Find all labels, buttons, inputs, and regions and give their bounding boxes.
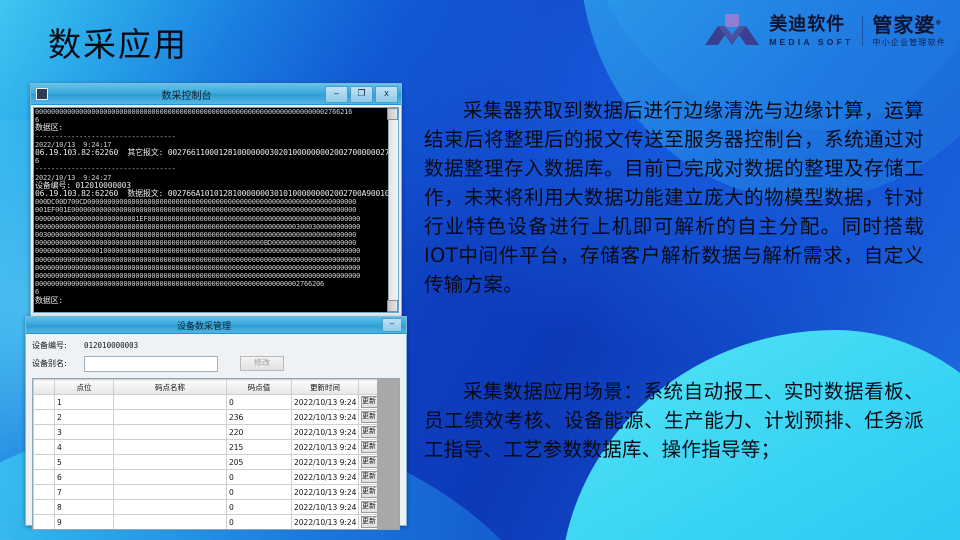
th-update-time: 更新时间: [292, 380, 359, 395]
console-log-text: 0000000000000000000000000000000000000000…: [35, 108, 388, 305]
maximize-button[interactable]: ❐: [350, 86, 373, 103]
cell-position: 5: [55, 455, 114, 470]
brand-name-cn: 美迪软件: [769, 16, 853, 34]
cell-code-value: 205: [227, 455, 292, 470]
th-code-value: 码点值: [227, 380, 292, 395]
device-code-row: 设备编号: 012010000003: [32, 338, 400, 353]
cell-code-value: 0: [227, 485, 292, 500]
cell-position: 9: [55, 515, 114, 530]
row-selector[interactable]: [34, 455, 55, 470]
cell-position: 2: [55, 410, 114, 425]
cell-code-value: 236: [227, 410, 292, 425]
cell-code-name: [114, 395, 227, 410]
device-code-value: 012010000003: [84, 341, 138, 350]
modify-button[interactable]: 修改: [240, 356, 284, 371]
device-alias-input[interactable]: [84, 356, 218, 372]
cell-code-value: 0: [227, 500, 292, 515]
device-alias-label: 设备别名:: [32, 358, 84, 369]
cell-code-value: 0: [227, 515, 292, 530]
table-row[interactable]: 602022/10/13 9:24更新: [34, 470, 401, 485]
console-window-controls[interactable]: – ❐ x: [325, 86, 398, 103]
slide-canvas: 数采应用 美迪软件 MEDIA SOFT 管家婆® 中小企业管理软件 数采控制台: [0, 0, 960, 540]
table-row[interactable]: 102022/10/13 9:24更新: [34, 395, 401, 410]
cell-code-value: 0: [227, 530, 292, 531]
row-selector[interactable]: [34, 485, 55, 500]
cell-code-name: [114, 470, 227, 485]
row-selector[interactable]: [34, 470, 55, 485]
cell-code-name: [114, 455, 227, 470]
th-select: [34, 380, 55, 395]
cell-position: 6: [55, 470, 114, 485]
device-collection-window[interactable]: 设备数采管理 – 设备编号: 012010000003 设备别名: 修改 点位: [25, 316, 407, 526]
table-row[interactable]: 1002022/10/13 9:24更新: [34, 530, 401, 531]
cell-update-time: 2022/10/13 9:24: [292, 530, 359, 531]
trademark-symbol: ®: [935, 19, 942, 26]
cell-code-name: [114, 485, 227, 500]
minimize-button[interactable]: –: [382, 318, 402, 332]
console-scrollbar[interactable]: [388, 108, 398, 312]
device-window-title-bar[interactable]: 设备数采管理 –: [26, 317, 406, 334]
cell-position: 7: [55, 485, 114, 500]
code-point-table: 点位 码点名称 码点值 更新时间 操作 102022/10/13 9:24更新2…: [33, 379, 400, 530]
table-row[interactable]: 702022/10/13 9:24更新: [34, 485, 401, 500]
cell-update-time: 2022/10/13 9:24: [292, 455, 359, 470]
cell-code-value: 220: [227, 425, 292, 440]
device-alias-row: 设备别名: 修改: [32, 356, 400, 371]
row-selector[interactable]: [34, 425, 55, 440]
cell-update-time: 2022/10/13 9:24: [292, 500, 359, 515]
scroll-down-arrow[interactable]: [387, 300, 398, 312]
paragraph-description: 采集器获取到数据后进行边缘清洗与边缘计算，运算结束后将整理后的报文传送至服务器控…: [424, 96, 924, 299]
table-right-gutter: [377, 379, 399, 529]
cell-code-name: [114, 440, 227, 455]
row-selector[interactable]: [34, 395, 55, 410]
page-title: 数采应用: [48, 18, 188, 66]
row-selector[interactable]: [34, 530, 55, 531]
device-form: 设备编号: 012010000003 设备别名: 修改: [26, 334, 406, 376]
th-position: 点位: [55, 380, 114, 395]
cell-update-time: 2022/10/13 9:24: [292, 470, 359, 485]
row-selector[interactable]: [34, 500, 55, 515]
table-row[interactable]: 42152022/10/13 9:24更新: [34, 440, 401, 455]
cell-code-value: 215: [227, 440, 292, 455]
brand-name-block: 美迪软件 MEDIA SOFT: [769, 16, 853, 47]
console-window-title: 数采控制台: [48, 87, 325, 102]
row-selector[interactable]: [34, 440, 55, 455]
cell-position: 1: [55, 395, 114, 410]
cell-code-value: 0: [227, 395, 292, 410]
cell-update-time: 2022/10/13 9:24: [292, 485, 359, 500]
table-row[interactable]: 22362022/10/13 9:24更新: [34, 410, 401, 425]
scroll-up-arrow[interactable]: [387, 108, 398, 120]
table-row[interactable]: 52052022/10/13 9:24更新: [34, 455, 401, 470]
cell-position: 8: [55, 500, 114, 515]
cell-position: 4: [55, 440, 114, 455]
console-output-area[interactable]: 0000000000000000000000000000000000000000…: [33, 107, 399, 313]
cell-update-time: 2022/10/13 9:24: [292, 440, 359, 455]
cell-operation: 更新: [359, 530, 401, 531]
table-row[interactable]: 32202022/10/13 9:24更新: [34, 425, 401, 440]
app-icon: [36, 88, 48, 100]
cell-update-time: 2022/10/13 9:24: [292, 410, 359, 425]
media-soft-m-logo-icon: [705, 14, 759, 48]
cell-code-value: 0: [227, 470, 292, 485]
device-window-title: 设备数采管理: [26, 319, 382, 332]
cell-code-name: [114, 500, 227, 515]
cell-code-name: [114, 530, 227, 531]
cell-code-name: [114, 515, 227, 530]
row-selector[interactable]: [34, 410, 55, 425]
table-header-row: 点位 码点名称 码点值 更新时间 操作: [34, 380, 401, 395]
console-title-bar[interactable]: 数采控制台 – ❐ x: [31, 84, 401, 105]
paragraph-2-text: 采集数据应用场景：系统自动报工、实时数据看板、员工绩效考核、设备能源、生产能力、…: [424, 377, 924, 464]
code-point-table-body: 102022/10/13 9:24更新22362022/10/13 9:24更新…: [34, 395, 401, 531]
cell-code-name: [114, 425, 227, 440]
paragraph-1-text: 采集器获取到数据后进行边缘清洗与边缘计算，运算结束后将整理后的报文传送至服务器控…: [424, 96, 924, 299]
cell-update-time: 2022/10/13 9:24: [292, 515, 359, 530]
minimize-button[interactable]: –: [325, 86, 348, 103]
logo-divider: [862, 16, 863, 46]
cell-position: 3: [55, 425, 114, 440]
brand-product-block: 管家婆® 中小企业管理软件: [872, 15, 946, 47]
brand-logo: 美迪软件 MEDIA SOFT 管家婆® 中小企业管理软件: [705, 10, 946, 52]
cell-update-time: 2022/10/13 9:24: [292, 395, 359, 410]
code-point-table-wrap[interactable]: 点位 码点名称 码点值 更新时间 操作 102022/10/13 9:24更新2…: [32, 378, 400, 530]
table-row[interactable]: 902022/10/13 9:24更新: [34, 515, 401, 530]
cell-code-name: [114, 410, 227, 425]
row-selector[interactable]: [34, 515, 55, 530]
table-row[interactable]: 802022/10/13 9:24更新: [34, 500, 401, 515]
paragraph-scenarios: 采集数据应用场景：系统自动报工、实时数据看板、员工绩效考核、设备能源、生产能力、…: [424, 377, 924, 464]
cell-position: 10: [55, 530, 114, 531]
th-code-name: 码点名称: [114, 380, 227, 395]
brand-product-sub: 中小企业管理软件: [872, 39, 946, 47]
device-code-label: 设备编号:: [32, 340, 84, 351]
console-window[interactable]: 数采控制台 – ❐ x 0000000000000000000000000000…: [30, 83, 402, 317]
brand-product-cn: 管家婆: [872, 13, 935, 37]
brand-name-en: MEDIA SOFT: [769, 38, 853, 47]
close-button[interactable]: x: [375, 86, 398, 103]
cell-update-time: 2022/10/13 9:24: [292, 425, 359, 440]
